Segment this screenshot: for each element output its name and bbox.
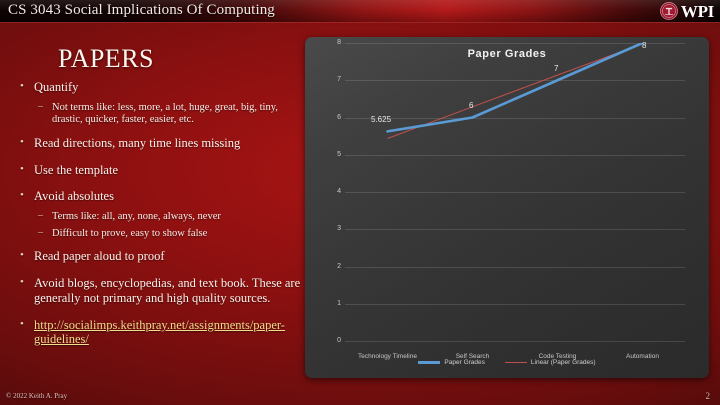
y-axis-tick: 3 bbox=[317, 225, 341, 232]
y-axis-tick: 1 bbox=[317, 300, 341, 307]
y-axis-tick: 2 bbox=[317, 263, 341, 270]
legend-item-paper-grades[interactable]: Paper Grades bbox=[418, 359, 484, 366]
dash-icon: – bbox=[38, 101, 43, 113]
bullet-text: Avoid absolutes bbox=[34, 189, 114, 203]
bullet-item: • Quantify bbox=[12, 80, 304, 95]
bullet-item: • Read directions, many time lines missi… bbox=[12, 136, 304, 151]
y-axis-tick: 6 bbox=[317, 114, 341, 121]
slide: CS 3043 Social Implications Of Computing… bbox=[0, 0, 720, 405]
bullet-item: • Avoid absolutes bbox=[12, 189, 304, 204]
y-axis-tick: 7 bbox=[317, 76, 341, 83]
bullet-dot-icon: • bbox=[20, 276, 24, 290]
bullet-dot-icon: • bbox=[20, 163, 24, 177]
sub-bullet-text: Terms like: all, any, none, always, neve… bbox=[52, 211, 221, 222]
wpi-logo: WPI bbox=[660, 1, 714, 21]
data-label: 5.625 bbox=[371, 115, 391, 124]
sub-bullet-text: Not terms like: less, more, a lot, huge,… bbox=[52, 102, 278, 126]
wpi-seal-icon bbox=[660, 2, 678, 20]
bullet-dot-icon: • bbox=[20, 249, 24, 263]
bullet-list: • Quantify – Not terms like: less, more,… bbox=[12, 80, 304, 354]
page-title: PAPERS bbox=[58, 44, 154, 74]
bullet-dot-icon: • bbox=[20, 189, 24, 203]
paper-guidelines-link[interactable]: http://socialimps.keithpray.net/assignme… bbox=[34, 318, 285, 347]
bullet-dot-icon: • bbox=[20, 136, 24, 150]
bullet-item: • Read paper aloud to proof bbox=[12, 249, 304, 264]
bullet-text: Use the template bbox=[34, 163, 118, 177]
chart-series-svg bbox=[345, 43, 685, 341]
bullet-text: Read paper aloud to proof bbox=[34, 249, 165, 263]
legend-swatch-red-icon bbox=[505, 362, 527, 363]
copyright-footer: © 2022 Keith A. Pray bbox=[6, 392, 67, 400]
bullet-item: • Use the template bbox=[12, 163, 304, 178]
bullet-item-link: • http://socialimps.keithpray.net/assign… bbox=[12, 318, 304, 348]
legend-item-linear-paper-grades[interactable]: Linear (Paper Grades) bbox=[505, 359, 596, 366]
bullet-text: Quantify bbox=[34, 80, 78, 94]
bullet-dot-icon: • bbox=[20, 318, 24, 332]
sub-bullet-item: – Difficult to prove, easy to show false bbox=[12, 228, 304, 241]
data-label: 7 bbox=[554, 64, 558, 73]
legend-swatch-blue-icon bbox=[418, 361, 440, 364]
line-paper-grades bbox=[388, 43, 643, 131]
y-axis-tick: 8 bbox=[317, 39, 341, 46]
gridline bbox=[345, 341, 685, 342]
y-axis-tick: 5 bbox=[317, 151, 341, 158]
wpi-wordmark: WPI bbox=[681, 3, 714, 20]
sub-bullet-item: – Terms like: all, any, none, always, ne… bbox=[12, 211, 304, 224]
bullet-item: • Avoid blogs, encyclopedias, and text b… bbox=[12, 276, 304, 306]
bullet-dot-icon: • bbox=[20, 80, 24, 94]
chart-legend: Paper Grades Linear (Paper Grades) bbox=[305, 359, 709, 366]
chart-plot-area: 8 7 6 5 4 3 2 1 0 5.625 6 7 8 Technology… bbox=[345, 43, 685, 341]
course-title: CS 3043 Social Implications Of Computing bbox=[8, 2, 275, 19]
legend-label: Paper Grades bbox=[444, 359, 484, 366]
page-number: 2 bbox=[706, 391, 711, 401]
sub-bullet-text: Difficult to prove, easy to show false bbox=[52, 228, 207, 239]
bullet-text: Avoid blogs, encyclopedias, and text boo… bbox=[34, 276, 300, 305]
y-axis-tick: 0 bbox=[317, 337, 341, 344]
paper-grades-chart[interactable]: Paper Grades 8 7 6 5 4 3 2 1 0 bbox=[305, 37, 709, 378]
sub-bullet-item: – Not terms like: less, more, a lot, hug… bbox=[12, 102, 304, 127]
dash-icon: – bbox=[38, 210, 43, 222]
legend-label: Linear (Paper Grades) bbox=[531, 359, 596, 366]
dash-icon: – bbox=[38, 227, 43, 239]
bullet-text: Read directions, many time lines missing bbox=[34, 136, 240, 150]
y-axis-tick: 4 bbox=[317, 188, 341, 195]
data-label: 8 bbox=[642, 41, 646, 50]
data-label: 6 bbox=[469, 101, 473, 110]
